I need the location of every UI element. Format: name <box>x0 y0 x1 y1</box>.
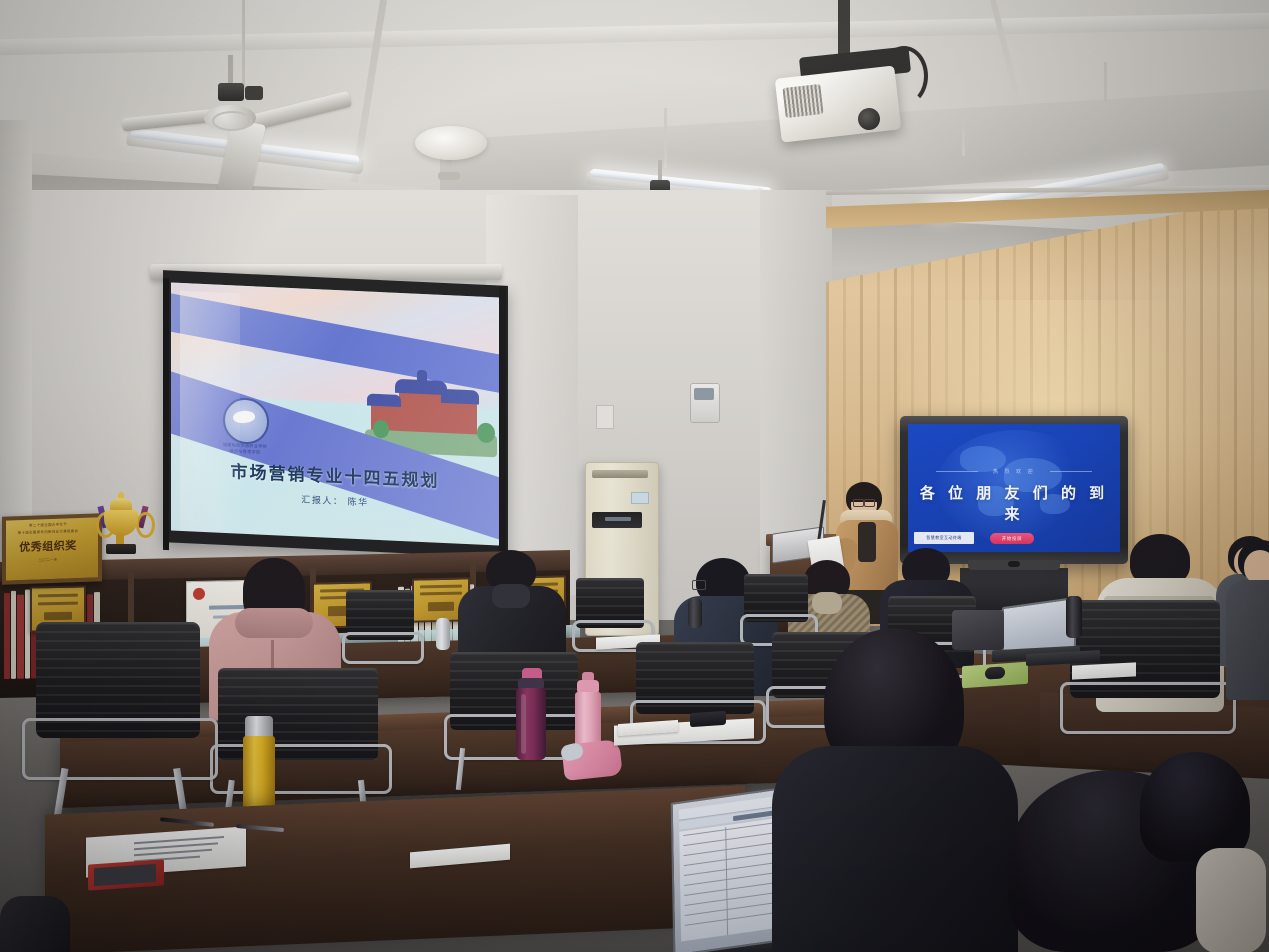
tv-action-button[interactable]: 开始投屏 <box>990 533 1034 544</box>
attendee-coat <box>772 746 1018 952</box>
tv-camera-icon <box>1008 561 1020 567</box>
award-title: 优秀组织奖 <box>6 537 90 556</box>
dome-light-base <box>438 172 460 180</box>
tube-wire-2 <box>664 108 667 168</box>
hair <box>1140 752 1250 862</box>
tv-corner-label-text: 智慧教室互动终端 <box>926 535 961 541</box>
tv-corner-label: 智慧教室互动终端 <box>914 532 974 544</box>
tv-welcome-eyebrow: 热 烈 欢 迎 <box>908 468 1120 475</box>
office-chair[interactable] <box>22 622 212 832</box>
glasses-icon <box>692 580 706 590</box>
steel-thermos <box>436 618 450 650</box>
tv-welcome-headline: 各 位 朋 友 们 的 到 来 <box>908 482 1120 524</box>
screen-right-edge <box>499 286 506 554</box>
smart-tv-screen[interactable]: 热 烈 欢 迎 各 位 朋 友 们 的 到 来 智慧教室互动终端 开始投屏 <box>908 424 1120 552</box>
wall-control-screen <box>694 388 714 400</box>
screen-glare <box>180 291 240 534</box>
wall-outlet <box>596 405 614 429</box>
glasses-icon <box>853 499 864 507</box>
attendee-right-edge <box>1236 540 1269 740</box>
inner-top <box>858 522 876 562</box>
screen-left-edge <box>163 278 169 550</box>
tube-wire-4 <box>962 114 965 156</box>
ac-vent-top <box>592 470 648 478</box>
dome-light <box>415 126 487 160</box>
purple-water-bottle <box>516 668 546 764</box>
office-chair[interactable] <box>342 590 418 660</box>
ac-sticker <box>631 492 649 504</box>
red-notebook <box>88 859 164 890</box>
meeting-room-photo: 福建船政交通职业学院 经济与管理学院 市场营销专业十四五规划 汇报人： 陈华 热… <box>0 0 1269 952</box>
tv-action-button-label: 开始投屏 <box>1002 536 1022 542</box>
black-thermos <box>1066 596 1082 638</box>
attendee-jacket <box>1196 848 1266 952</box>
attendee-foreground-center <box>772 628 1018 952</box>
ac-display-text <box>605 517 631 521</box>
smartphone <box>690 711 726 728</box>
hoodie-hood <box>235 608 313 638</box>
attendee-foreground-right <box>1000 752 1250 952</box>
ceiling-fan-left <box>120 55 350 175</box>
office-chair[interactable] <box>210 668 386 796</box>
projector-vent <box>782 84 823 118</box>
black-thermos <box>688 598 702 628</box>
trophy-base <box>106 544 136 554</box>
trophy-handle-right <box>136 512 155 538</box>
tube-wire-3 <box>1104 62 1107 102</box>
attendee-foreground-left <box>0 896 70 952</box>
